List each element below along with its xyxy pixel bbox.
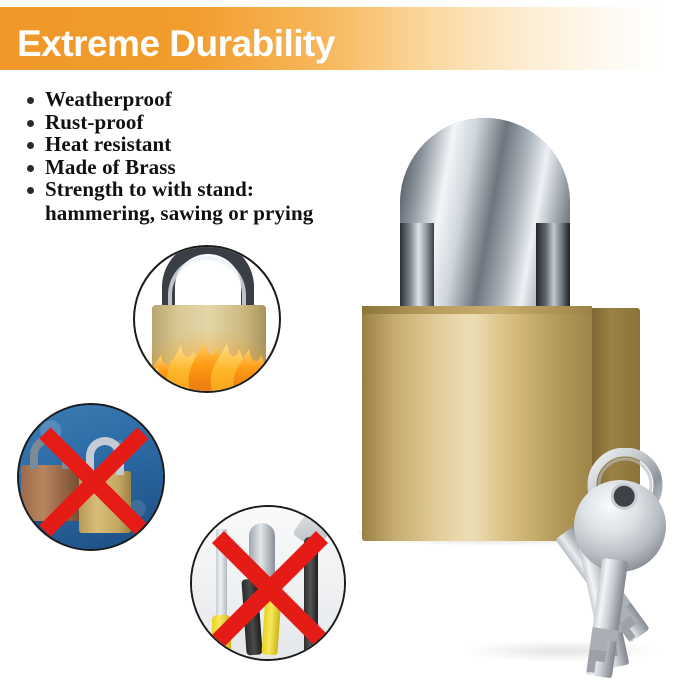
pliers-head-icon bbox=[249, 523, 275, 585]
list-item: Weatherproof bbox=[26, 88, 426, 111]
header-banner: Extreme Durability bbox=[0, 7, 679, 70]
brass-padlock-icon bbox=[79, 471, 131, 533]
infographic-canvas: Extreme Durability Weatherproof Rust-pro… bbox=[0, 0, 679, 683]
bullet-dot-icon bbox=[27, 120, 34, 127]
padlock-keys bbox=[470, 448, 679, 683]
rust-proof-inset bbox=[17, 403, 165, 551]
keys-icon bbox=[470, 448, 679, 683]
page-title: Extreme Durability bbox=[17, 22, 335, 66]
key-right bbox=[553, 474, 672, 683]
screwdriver-shaft-icon bbox=[216, 529, 227, 625]
bullet-dot-icon bbox=[27, 165, 34, 172]
list-item-label: Heat resistant bbox=[45, 132, 171, 156]
list-item-label: Weatherproof bbox=[45, 87, 172, 111]
bullet-dot-icon bbox=[27, 97, 34, 104]
tamper-resistance-inset bbox=[190, 505, 346, 661]
bullet-dot-icon bbox=[27, 187, 34, 194]
pry-bar-icon bbox=[304, 537, 318, 655]
list-item-label: Made of Brass bbox=[45, 155, 176, 179]
screwdriver-handle-icon bbox=[212, 615, 231, 655]
rusted-padlock-icon bbox=[21, 465, 83, 521]
list-item-label: Rust-proof bbox=[45, 110, 144, 134]
flames-icon bbox=[135, 247, 281, 393]
heat-resistance-inset bbox=[133, 245, 281, 393]
list-item-label: Strength to with stand: bbox=[45, 177, 254, 201]
bullet-dot-icon bbox=[27, 142, 34, 149]
